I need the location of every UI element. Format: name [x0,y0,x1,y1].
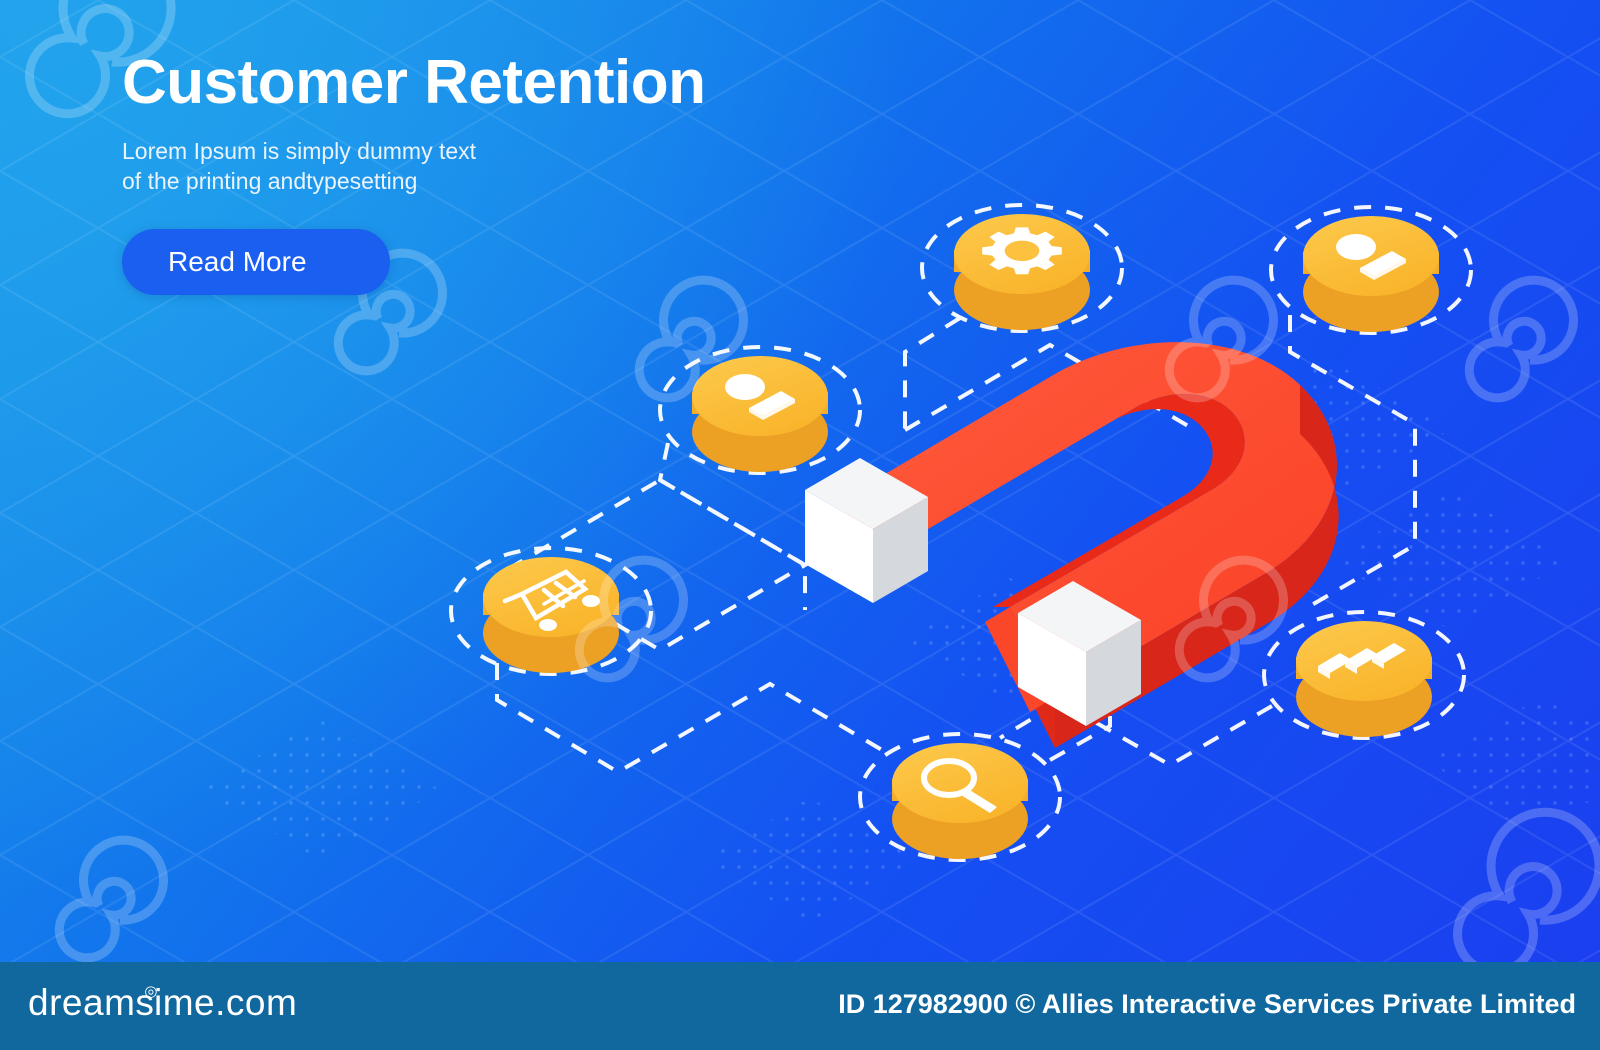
gear-icon [982,227,1062,274]
coin-top [1303,216,1439,296]
brand-text-suffix: ime.com [154,982,297,1023]
coin-bar-chart[interactable] [1296,621,1432,737]
hero-subtitle-line-2: of the printing andtypesetting [122,166,782,196]
swirl-icon: ◎ [144,982,158,1000]
coin-search[interactable] [892,743,1028,859]
dreamstime-logo[interactable]: dreams◎ime.com [28,982,297,1024]
hero-subtitle: Lorem Ipsum is simply dummy text of the … [122,136,782,197]
image-credit-text: ID 127982900 © Allies Interactive Servic… [838,989,1576,1020]
coin-gear[interactable] [954,214,1090,330]
coin-user-top-right[interactable] [1303,216,1439,332]
hero-copy: Customer Retention Lorem Ipsum is simply… [122,52,782,295]
hero-subtitle-line-1: Lorem Ipsum is simply dummy text [122,136,782,166]
coin-cart[interactable] [483,557,619,673]
brand-text-prefix: drea [28,982,104,1023]
stock-footer-bar: dreams◎ime.com ID 127982900 © Allies Int… [0,962,1600,1050]
artboard: Customer Retention Lorem Ipsum is simply… [0,0,1600,962]
illustration-banner: Customer Retention Lorem Ipsum is simply… [0,0,1600,1050]
coin-user-left[interactable] [692,356,828,472]
read-more-button[interactable]: Read More [122,229,390,295]
coin-top [692,356,828,436]
coin-top [892,743,1028,823]
page-title: Customer Retention [122,52,782,114]
